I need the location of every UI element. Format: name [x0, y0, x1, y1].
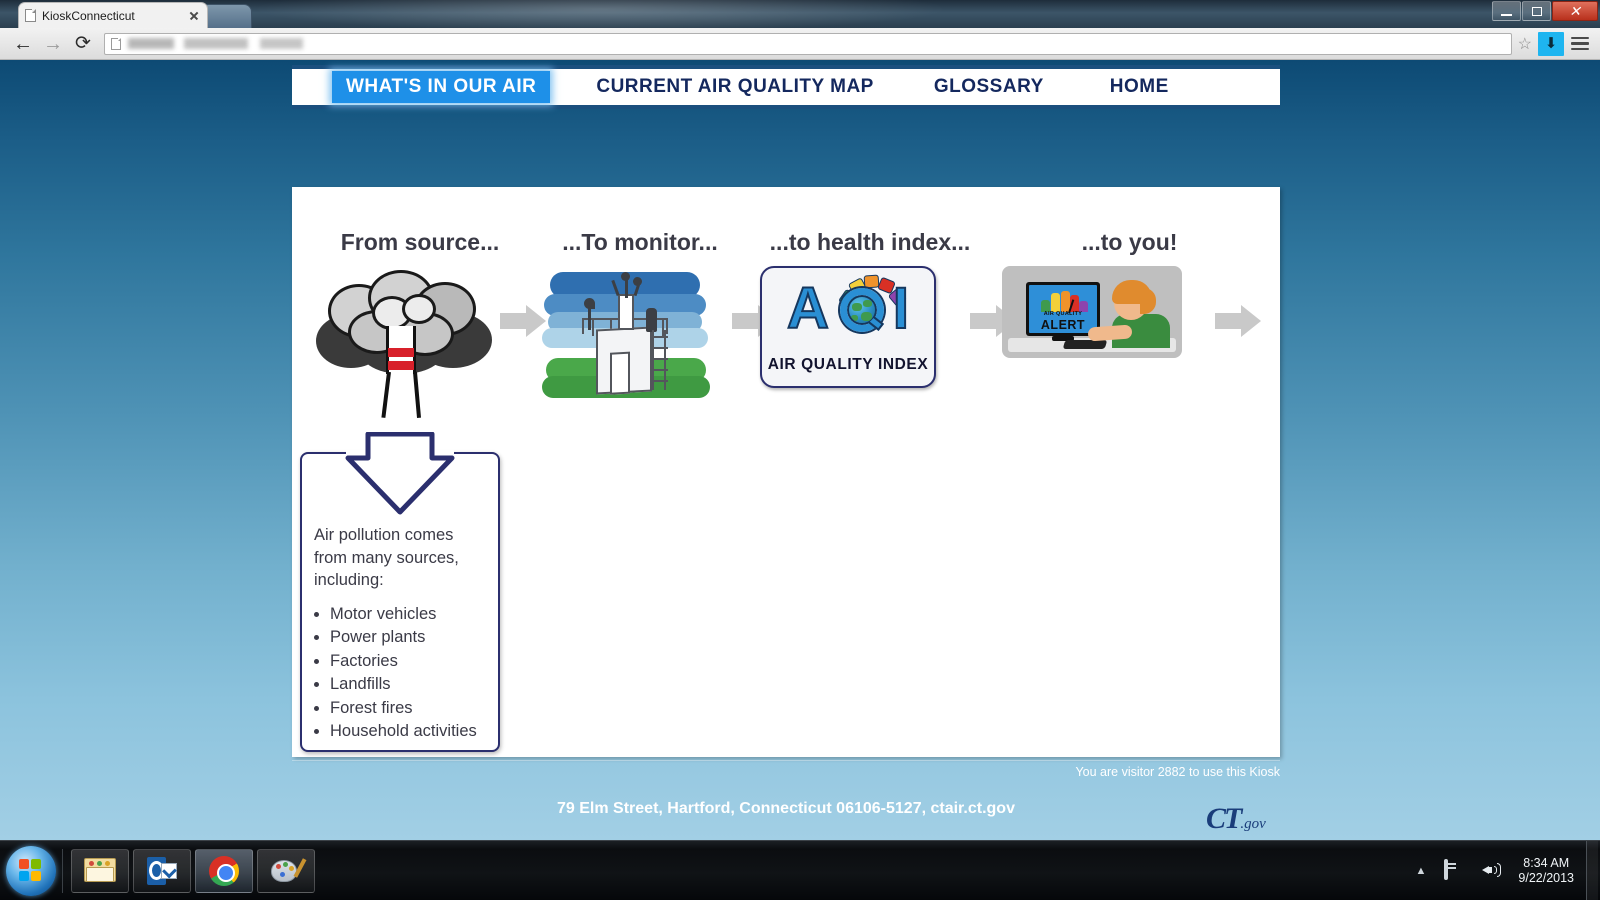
flow-step-to-you: ...to you! — [1002, 229, 1257, 358]
taskbar-item-file-explorer[interactable] — [71, 849, 129, 893]
maximize-button[interactable] — [1522, 1, 1551, 21]
show-hidden-icons-arrow[interactable]: ▲ — [1416, 865, 1427, 877]
smokestack-chimney — [384, 326, 418, 411]
nav-item-home[interactable]: HOME — [1096, 71, 1183, 103]
clock-date: 9/22/2013 — [1518, 871, 1574, 886]
nav-item-current-air-quality-map[interactable]: CURRENT AIR QUALITY MAP — [582, 71, 888, 103]
computer-monitor: AIR QUALITY ALERT — [1026, 282, 1100, 336]
show-desktop-button[interactable] — [1586, 841, 1598, 900]
list-item: Power plants — [330, 627, 500, 649]
globe-icon — [848, 296, 876, 324]
flow-step-health-index-title: ...to health index... — [760, 229, 980, 256]
restore-icon — [1532, 7, 1542, 16]
smokestack-illustration — [310, 266, 530, 411]
taskbar-item-outlook[interactable] — [133, 849, 191, 893]
station-tower — [618, 294, 634, 330]
pollution-sources-callout: Air pollution comes from many sources, i… — [300, 432, 500, 752]
url-text-redacted — [128, 38, 348, 49]
ct-gov-logo-ct: CT — [1206, 802, 1240, 835]
station-vent — [646, 308, 657, 332]
aqi-letter-i: I — [893, 280, 909, 338]
close-button[interactable]: ✕ — [1552, 1, 1598, 21]
clock-time: 8:34 AM — [1518, 856, 1574, 871]
aqi-gauge-icon — [1041, 289, 1087, 312]
address-bar[interactable] — [104, 33, 1512, 55]
list-item: Forest fires — [330, 698, 500, 720]
flow-step-monitor-title: ...To monitor... — [540, 229, 740, 256]
flow-step-monitor: ...To monitor... — [540, 229, 740, 411]
down-arrow-icon — [344, 432, 456, 516]
close-icon: ✕ — [1569, 4, 1581, 18]
taskbar-item-paint[interactable] — [257, 849, 315, 893]
flow-step-health-index: ...to health index... — [760, 229, 980, 388]
station-building — [596, 327, 652, 395]
pollution-sources-list: Motor vehicles Power plants Factories La… — [330, 604, 500, 745]
ct-gov-logo-gov: .gov — [1240, 816, 1265, 832]
callout-intro-text: Air pollution comes from many sources, i… — [314, 524, 490, 592]
alert-line-1: AIR QUALITY — [1029, 311, 1097, 317]
window-controls: ✕ — [1491, 1, 1598, 21]
minimize-button[interactable] — [1492, 1, 1521, 21]
flow-step-to-you-title: ...to you! — [1002, 229, 1257, 256]
browser-toolbar: ← → ⟳ ☆ ⬇ — [0, 28, 1600, 60]
site-navigation: WHAT'S IN OUR AIR CURRENT AIR QUALITY MA… — [292, 65, 1280, 109]
page-viewport: WHAT'S IN OUR AIR CURRENT AIR QUALITY MA… — [0, 60, 1600, 840]
screen: KioskConnecticut ✕ ← → ⟳ ☆ ⬇ — [0, 0, 1600, 900]
taskbar-item-chrome[interactable] — [195, 849, 253, 893]
flow-step-source-title: From source... — [310, 229, 530, 256]
forward-button[interactable]: → — [38, 31, 68, 57]
list-item: Landfills — [330, 674, 500, 696]
reload-button[interactable]: ⟳ — [68, 31, 98, 57]
bookmark-star-icon[interactable]: ☆ — [1518, 34, 1532, 54]
ct-gov-logo[interactable]: CT.gov — [1206, 802, 1266, 836]
chrome-icon — [209, 856, 239, 886]
station-ladder — [652, 330, 666, 390]
flow-arrow-icon — [1215, 305, 1261, 337]
system-tray: ▲ 8:34 AM 9/22/2013 — [1406, 841, 1600, 900]
speaker-icon[interactable] — [1482, 861, 1504, 881]
browser-window: KioskConnecticut ✕ ← → ⟳ ☆ ⬇ — [0, 0, 1600, 840]
list-item: Factories — [330, 651, 500, 673]
page-icon — [25, 9, 36, 22]
aqi-caption: AIR QUALITY INDEX — [762, 356, 934, 374]
download-icon[interactable]: ⬇ — [1538, 32, 1564, 56]
taskbar-clock[interactable]: 8:34 AM 9/22/2013 — [1512, 856, 1586, 886]
windows-taskbar: ▲ 8:34 AM 9/22/2013 — [0, 840, 1600, 900]
reload-icon: ⟳ — [75, 34, 91, 53]
monitoring-station-illustration — [540, 266, 740, 411]
outlook-icon — [147, 857, 177, 885]
content-card: From source... — [292, 187, 1280, 757]
back-arrow-icon: ← — [13, 34, 33, 54]
paint-icon — [271, 858, 301, 884]
list-item: Motor vehicles — [330, 604, 500, 626]
file-explorer-icon — [84, 858, 116, 884]
aqi-letter-q — [831, 278, 891, 340]
hamburger-menu-icon[interactable] — [1568, 37, 1592, 51]
browser-tab[interactable]: KioskConnecticut — [18, 2, 208, 28]
windows-flag-glyph — [19, 859, 43, 883]
tab-close-icon[interactable] — [187, 9, 201, 23]
browser-titlebar: KioskConnecticut ✕ — [0, 0, 1600, 28]
windows-start-orb-icon[interactable] — [6, 846, 56, 896]
tab-title: KioskConnecticut — [42, 9, 187, 23]
footer-address: 79 Elm Street, Hartford, Connecticut 061… — [292, 800, 1280, 818]
forward-arrow-icon: → — [43, 34, 63, 54]
aqi-logo: A — [760, 266, 980, 388]
download-arrow-glyph: ⬇ — [1545, 36, 1558, 51]
aqi-letter-a: A — [787, 280, 829, 338]
flag-icon[interactable] — [1444, 861, 1466, 881]
page-icon — [111, 38, 121, 50]
nav-item-glossary[interactable]: GLOSSARY — [920, 71, 1058, 103]
list-item: Household activities — [330, 721, 500, 743]
alert-line-2: ALERT — [1029, 318, 1097, 332]
minimize-icon — [1501, 14, 1512, 16]
nav-item-whats-in-our-air[interactable]: WHAT'S IN OUR AIR — [332, 71, 550, 103]
flow-step-source: From source... — [310, 229, 530, 411]
visitor-counter: You are visitor 2882 to use this Kiosk — [292, 760, 1280, 779]
aqi-letters: A — [762, 278, 934, 340]
back-button[interactable]: ← — [8, 31, 38, 57]
